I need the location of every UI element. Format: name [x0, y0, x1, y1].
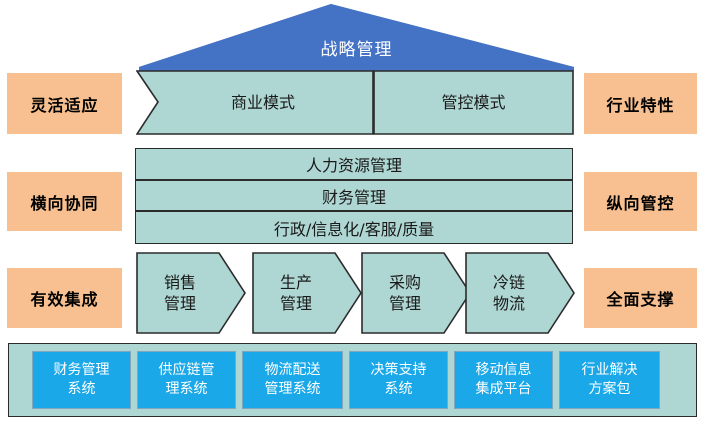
- system-box-6[interactable]: 行业解决 方案包: [559, 351, 660, 409]
- diagram-canvas: 战略管理 灵活适应 横向协同 有效集成 行业特性 纵向管控 全面支撑 商业模式 …: [0, 0, 704, 425]
- support-bar-1-label: 人力资源管理: [306, 152, 402, 176]
- process-chevron-4[interactable]: [465, 252, 575, 334]
- system-box-4-label: 决策支持 系统: [371, 361, 427, 399]
- roof-label: 战略管理: [139, 40, 574, 60]
- process-chevron-2[interactable]: [252, 252, 362, 334]
- system-box-6-label: 行业解决 方案包: [582, 361, 638, 399]
- right-pillar-1[interactable]: 行业特性: [584, 73, 697, 134]
- support-bar-2-label: 财务管理: [322, 184, 386, 208]
- system-box-1[interactable]: 财务管理 系统: [32, 351, 131, 409]
- roof-shape: [139, 4, 574, 71]
- system-box-1-label: 财务管理 系统: [54, 361, 110, 399]
- system-box-2[interactable]: 供应链管 理系统: [137, 351, 236, 409]
- left-pillar-1[interactable]: 灵活适应: [7, 73, 122, 134]
- left-pillar-3-label: 有效集成: [30, 286, 98, 310]
- support-bar-1[interactable]: 人力资源管理: [135, 148, 573, 180]
- support-bar-3[interactable]: 行政/信息化/客服/质量: [135, 211, 573, 244]
- mode-chevron-1[interactable]: [136, 70, 374, 135]
- support-bar-3-label: 行政/信息化/客服/质量: [274, 216, 434, 240]
- process-chevron-3[interactable]: [361, 252, 471, 334]
- left-pillar-2[interactable]: 横向协同: [7, 172, 122, 231]
- system-box-4[interactable]: 决策支持 系统: [349, 351, 448, 409]
- support-bar-2[interactable]: 财务管理: [135, 180, 573, 211]
- system-box-3[interactable]: 物流配送 管理系统: [242, 351, 343, 409]
- mode-chevron-2[interactable]: [373, 70, 574, 135]
- right-pillar-3-label: 全面支撑: [606, 286, 674, 310]
- system-box-5[interactable]: 移动信息 集成平台: [454, 351, 553, 409]
- system-box-5-label: 移动信息 集成平台: [476, 361, 532, 399]
- system-box-2-label: 供应链管 理系统: [159, 361, 215, 399]
- process-chevron-1[interactable]: [136, 252, 246, 334]
- left-pillar-1-label: 灵活适应: [30, 92, 98, 116]
- right-pillar-1-label: 行业特性: [606, 92, 674, 116]
- system-box-3-label: 物流配送 管理系统: [265, 361, 321, 399]
- left-pillar-3[interactable]: 有效集成: [7, 268, 122, 328]
- right-pillar-3[interactable]: 全面支撑: [584, 268, 697, 328]
- right-pillar-2-label: 纵向管控: [606, 190, 674, 214]
- right-pillar-2[interactable]: 纵向管控: [584, 172, 697, 231]
- left-pillar-2-label: 横向协同: [30, 190, 98, 214]
